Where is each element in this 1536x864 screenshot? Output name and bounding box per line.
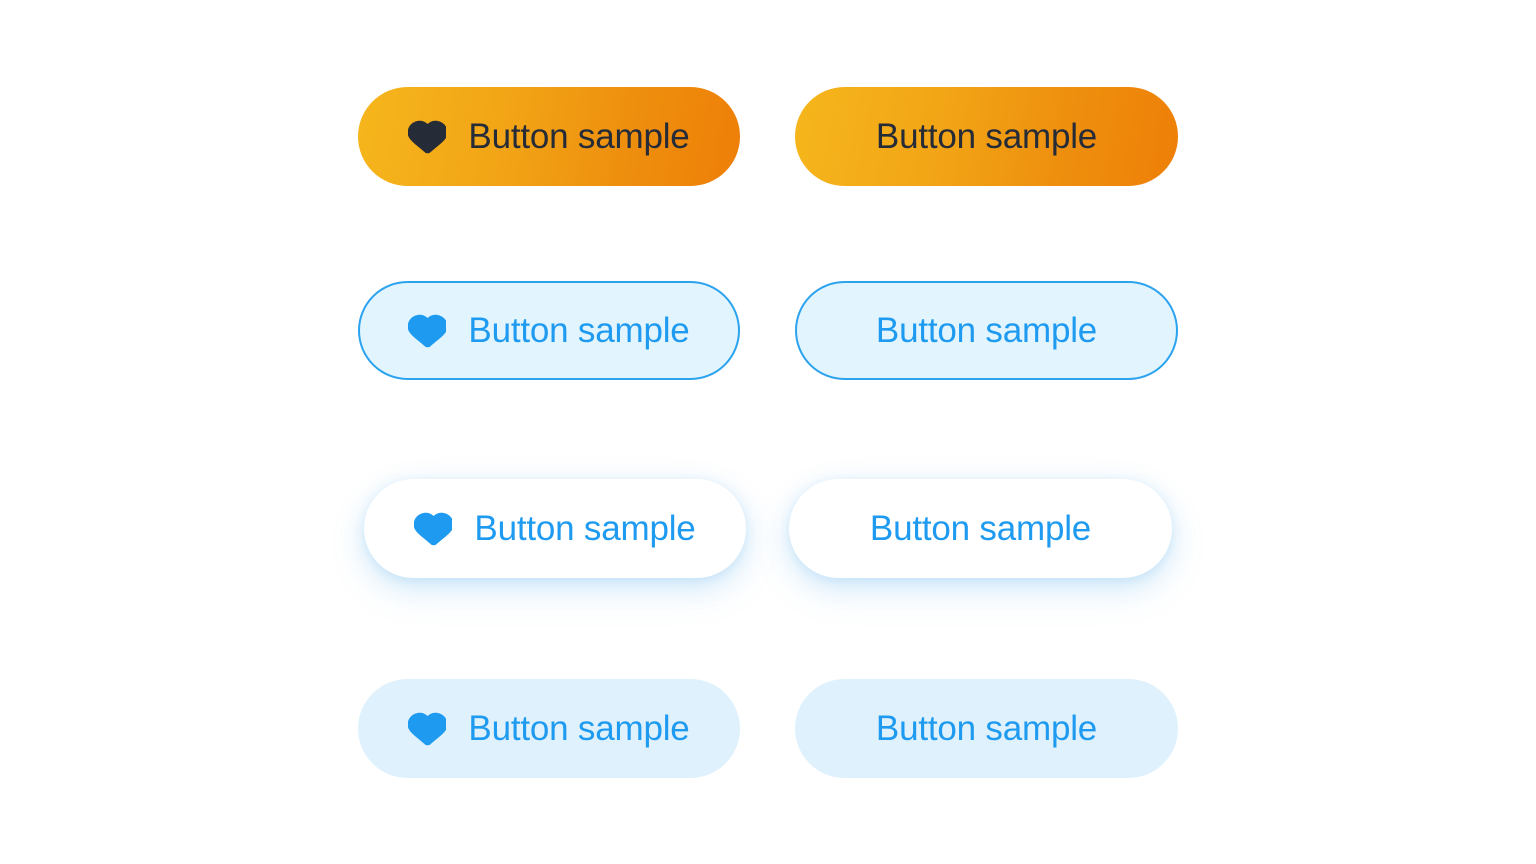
heart-icon xyxy=(408,120,446,154)
button-label: Button sample xyxy=(876,313,1097,348)
heart-icon xyxy=(408,314,446,348)
tonal-button-with-icon[interactable]: Button sample xyxy=(358,679,740,778)
primary-button-with-icon[interactable]: Button sample xyxy=(358,87,740,186)
button-label: Button sample xyxy=(876,119,1097,154)
button-label: Button sample xyxy=(474,511,695,546)
heart-icon xyxy=(408,712,446,746)
primary-button-text-only[interactable]: Button sample xyxy=(795,87,1178,186)
elevated-button-with-icon[interactable]: Button sample xyxy=(364,479,746,578)
button-gallery: Button sample Button sample Button sampl… xyxy=(0,0,1536,864)
outlined-button-text-only[interactable]: Button sample xyxy=(795,281,1178,380)
button-label: Button sample xyxy=(468,313,689,348)
outlined-button-with-icon[interactable]: Button sample xyxy=(358,281,740,380)
button-label: Button sample xyxy=(468,711,689,746)
button-label: Button sample xyxy=(876,711,1097,746)
heart-icon xyxy=(414,512,452,546)
tonal-button-text-only[interactable]: Button sample xyxy=(795,679,1178,778)
button-label: Button sample xyxy=(870,511,1091,546)
button-label: Button sample xyxy=(468,119,689,154)
elevated-button-text-only[interactable]: Button sample xyxy=(789,479,1172,578)
